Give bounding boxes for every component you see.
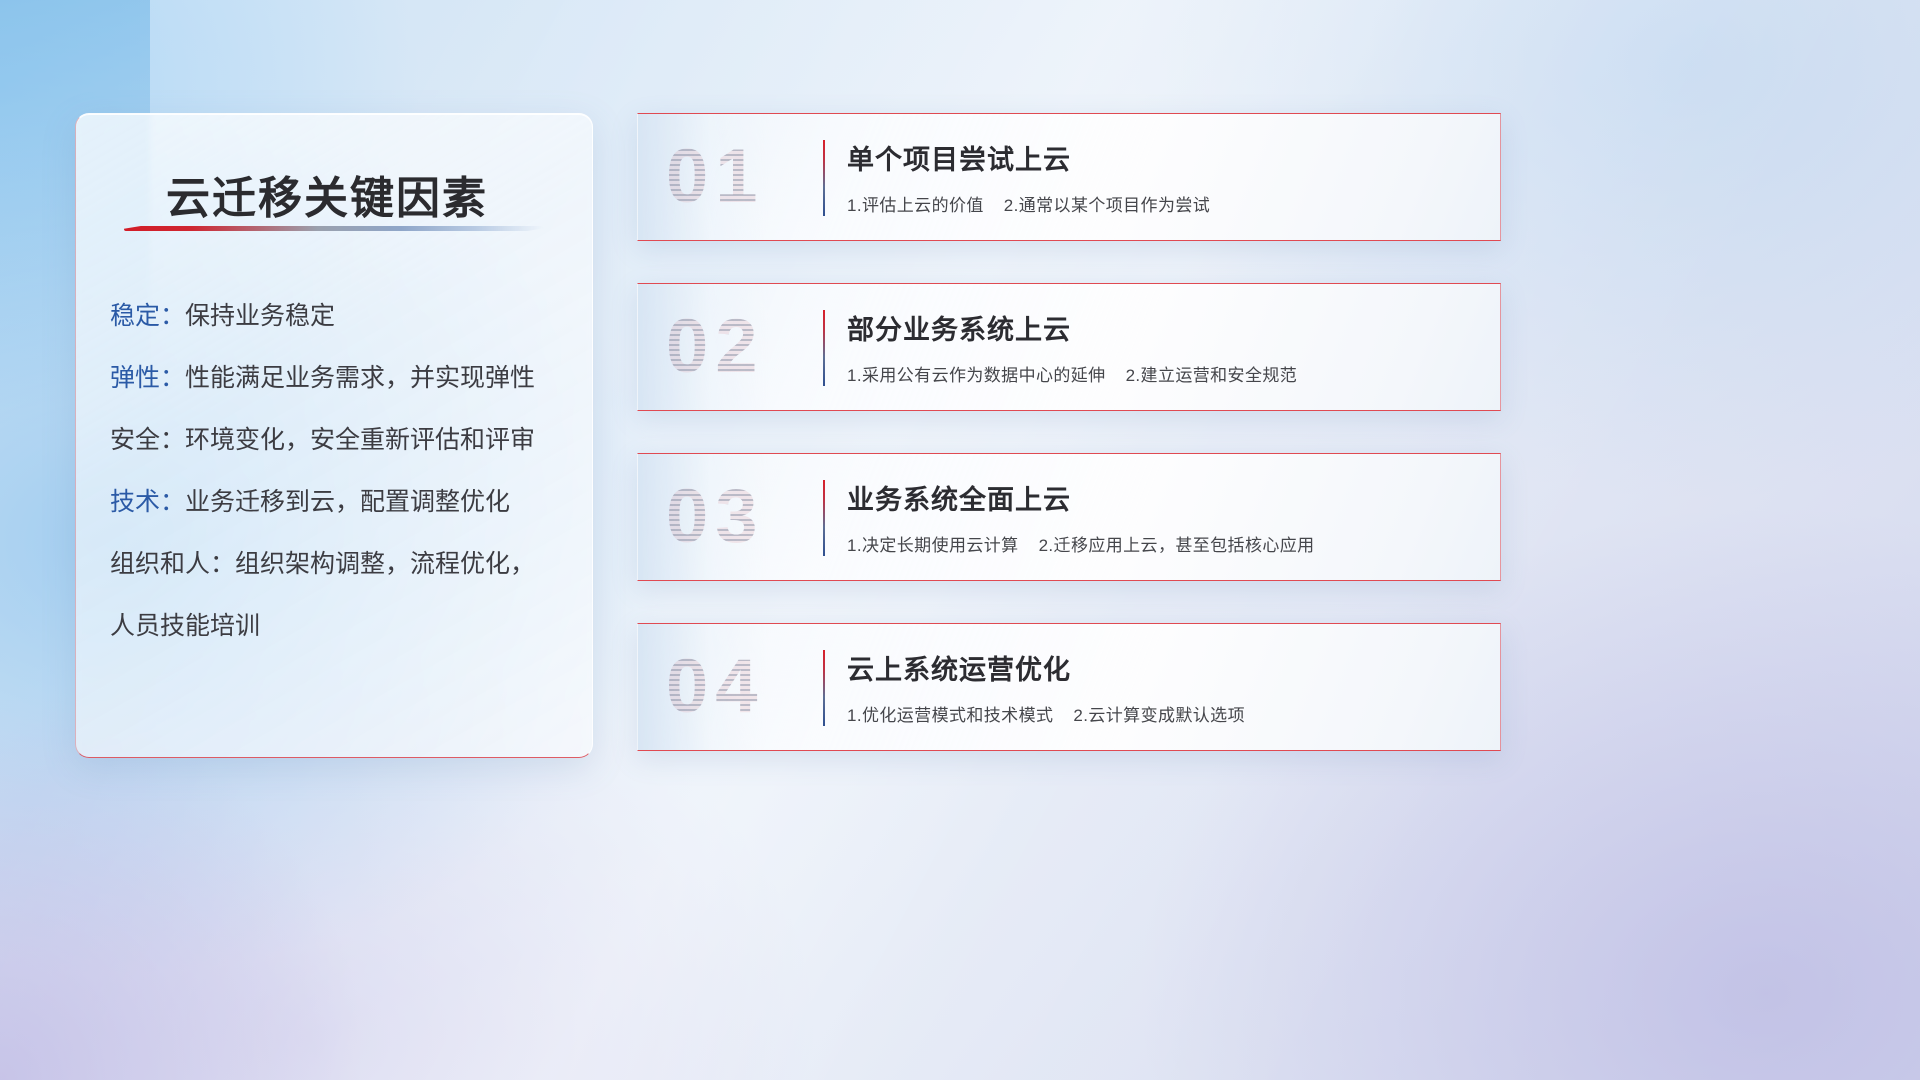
card-point-1: 1.决定长期使用云计算 — [847, 536, 1019, 555]
factor-key: 安全： — [110, 426, 185, 454]
factor-value: 保持业务稳定 — [185, 302, 335, 330]
card-point-2: 2.迁移应用上云，甚至包括核心应用 — [1039, 536, 1315, 555]
card-divider-line — [823, 480, 825, 556]
card-body: 单个项目尝试上云1.评估上云的价值2.通常以某个项目作为尝试 — [847, 138, 1470, 216]
stage-number: 04 — [666, 649, 765, 725]
factor-row: 稳定：保持业务稳定 — [110, 304, 568, 329]
stage-card[interactable]: 0303业务系统全面上云1.决定长期使用云计算2.迁移应用上云，甚至包括核心应用 — [637, 453, 1501, 581]
factor-row: 人员技能培训 — [110, 614, 568, 639]
factor-key: 稳定： — [110, 302, 185, 330]
card-title: 部分业务系统上云 — [847, 308, 1470, 347]
slide-stage: 云迁移关键因素 稳定：保持业务稳定弹性：性能满足业务需求，并实现弹性安全：环境变… — [0, 0, 1920, 1080]
factor-row: 组织和人：组织架构调整，流程优化， — [110, 552, 568, 577]
page-title: 云迁移关键因素 — [166, 162, 488, 226]
card-point-2: 2.云计算变成默认选项 — [1073, 706, 1245, 725]
factor-row: 安全：环境变化，安全重新评估和评审 — [110, 428, 568, 453]
stage-card[interactable]: 0202部分业务系统上云1.采用公有云作为数据中心的延伸2.建立运营和安全规范 — [637, 283, 1501, 411]
card-point-2: 2.建立运营和安全规范 — [1126, 366, 1298, 385]
stage-number: 03 — [666, 479, 765, 555]
stage-number: 02 — [666, 309, 765, 385]
factor-list: 稳定：保持业务稳定弹性：性能满足业务需求，并实现弹性安全：环境变化，安全重新评估… — [110, 304, 568, 639]
card-point-2: 2.通常以某个项目作为尝试 — [1004, 196, 1210, 215]
factor-value: 业务迁移到云，配置调整优化 — [185, 488, 510, 516]
factor-row: 技术：业务迁移到云，配置调整优化 — [110, 490, 568, 515]
factor-key: 技术： — [110, 488, 185, 516]
card-body: 云上系统运营优化1.优化运营模式和技术模式2.云计算变成默认选项 — [847, 648, 1470, 726]
factor-key: 弹性： — [110, 364, 185, 392]
card-description: 1.优化运营模式和技术模式2.云计算变成默认选项 — [847, 701, 1470, 726]
stage-number: 01 — [666, 139, 765, 215]
stage-card-list: 0101单个项目尝试上云1.评估上云的价值2.通常以某个项目作为尝试0202部分… — [637, 113, 1501, 751]
key-factors-panel: 云迁移关键因素 稳定：保持业务稳定弹性：性能满足业务需求，并实现弹性安全：环境变… — [75, 113, 593, 758]
card-point-1: 1.评估上云的价值 — [847, 196, 984, 215]
card-body: 部分业务系统上云1.采用公有云作为数据中心的延伸2.建立运营和安全规范 — [847, 308, 1470, 386]
card-divider-line — [823, 310, 825, 386]
card-divider-line — [823, 650, 825, 726]
factor-value: 性能满足业务需求，并实现弹性 — [185, 364, 535, 392]
card-title: 云上系统运营优化 — [847, 648, 1470, 687]
card-description: 1.决定长期使用云计算2.迁移应用上云，甚至包括核心应用 — [847, 531, 1470, 556]
card-divider-line — [823, 140, 825, 216]
card-point-1: 1.采用公有云作为数据中心的延伸 — [847, 366, 1106, 385]
title-underline-rule — [124, 226, 544, 231]
stage-card[interactable]: 0101单个项目尝试上云1.评估上云的价值2.通常以某个项目作为尝试 — [637, 113, 1501, 241]
card-body: 业务系统全面上云1.决定长期使用云计算2.迁移应用上云，甚至包括核心应用 — [847, 478, 1470, 556]
card-point-1: 1.优化运营模式和技术模式 — [847, 706, 1053, 725]
card-description: 1.采用公有云作为数据中心的延伸2.建立运营和安全规范 — [847, 361, 1470, 386]
factor-row: 弹性：性能满足业务需求，并实现弹性 — [110, 366, 568, 391]
factor-value: 环境变化，安全重新评估和评审 — [185, 426, 535, 454]
card-description: 1.评估上云的价值2.通常以某个项目作为尝试 — [847, 191, 1470, 216]
factor-value: 组织架构调整，流程优化， — [235, 550, 535, 578]
stage-card[interactable]: 0404云上系统运营优化1.优化运营模式和技术模式2.云计算变成默认选项 — [637, 623, 1501, 751]
card-title: 单个项目尝试上云 — [847, 138, 1470, 177]
factor-value: 人员技能培训 — [110, 612, 260, 640]
factor-key: 组织和人： — [110, 550, 235, 578]
card-title: 业务系统全面上云 — [847, 478, 1470, 517]
